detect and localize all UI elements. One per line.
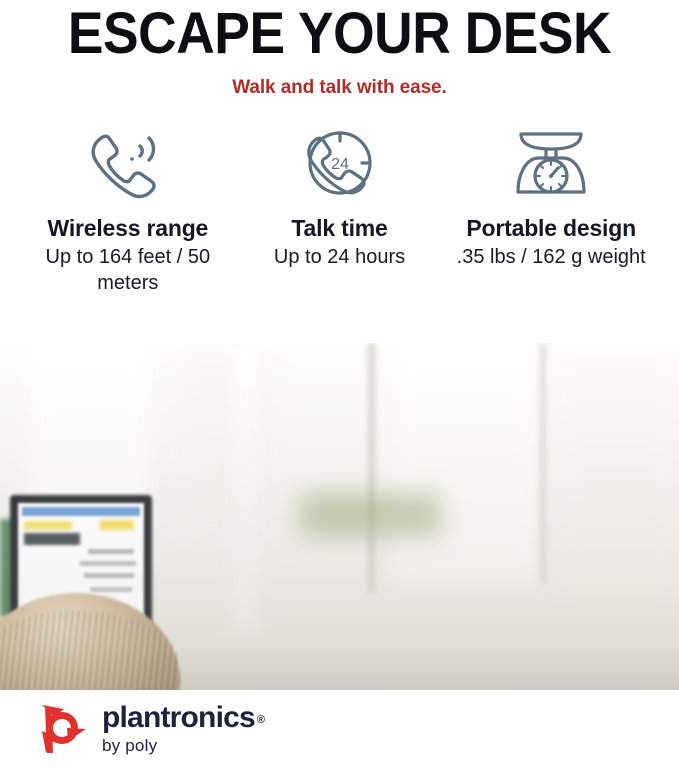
screen-text-line: [88, 549, 134, 554]
phone-handset-waves-icon: [80, 123, 176, 205]
feature-list: Wireless range Up to 164 feet / 50 meter…: [0, 123, 679, 296]
feature-title: Wireless range: [48, 215, 209, 242]
page-title: ESCAPE YOUR DESK: [27, 4, 652, 64]
feature-title: Portable design: [466, 215, 636, 242]
header-block: ESCAPE YOUR DESK Walk and talk with ease…: [0, 0, 679, 99]
screen-highlight: [100, 520, 134, 530]
feature-talk-time: 24 Talk time Up to 24 hours: [234, 123, 446, 296]
logo-wordmark-text: plantronics: [102, 703, 255, 733]
handset-clock-24-icon: 24: [294, 123, 386, 205]
feature-description: .35 lbs / 162 g weight: [457, 244, 646, 270]
logo-wordmark: plantronics ®: [102, 703, 264, 733]
screen-toolbar: [22, 507, 140, 516]
window-mullion: [368, 343, 375, 593]
background-window: [392, 343, 542, 583]
brand-logo: plantronics ® by poly: [0, 690, 679, 768]
clock-24-label: 24: [331, 156, 349, 173]
plantronics-propeller-mark-icon: [34, 701, 90, 757]
window-mullion: [540, 343, 546, 583]
registered-trademark-icon: ®: [257, 715, 264, 726]
background-greenery: [300, 493, 440, 537]
feature-wireless-range: Wireless range Up to 164 feet / 50 meter…: [22, 123, 234, 296]
screen-highlight: [24, 521, 72, 530]
feature-portable-design: Portable design .35 lbs / 162 g weight: [445, 123, 657, 296]
screen-text-line: [84, 573, 134, 578]
hero-photo: [0, 343, 679, 690]
photo-vignette: [0, 643, 679, 690]
background-pillar: [232, 343, 258, 633]
background-window: [556, 343, 679, 593]
screen-block: [24, 533, 80, 545]
feature-description: Up to 24 hours: [274, 244, 405, 270]
feature-title: Talk time: [291, 215, 387, 242]
page-subtitle: Walk and talk with ease.: [0, 77, 679, 99]
logo-text-block: plantronics ® by poly: [102, 703, 264, 755]
screen-text-line: [80, 561, 136, 566]
screen-text-line: [90, 587, 132, 592]
weighing-scale-icon: [508, 123, 594, 205]
feature-description: Up to 164 feet / 50 meters: [33, 244, 223, 296]
logo-tagline: by poly: [102, 737, 264, 755]
